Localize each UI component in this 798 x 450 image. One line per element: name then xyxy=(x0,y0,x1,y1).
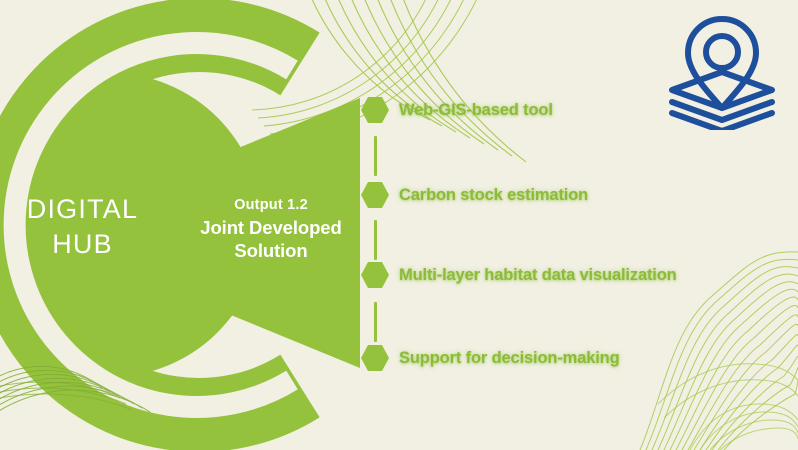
brand-line-2: HUB xyxy=(0,227,165,262)
output-kicker: Output 1.2 xyxy=(182,196,360,214)
output-block: Output 1.2 Joint Developed Solution xyxy=(182,196,360,263)
hexagon-icon xyxy=(360,180,390,210)
list-item[interactable]: Support for decision-making xyxy=(360,341,620,375)
hexagon-icon xyxy=(360,260,390,290)
map-pin-layers-icon xyxy=(660,12,785,130)
output-title-line-2: Solution xyxy=(182,239,360,262)
list-item[interactable]: Web-GIS-based tool xyxy=(360,93,553,127)
list-item[interactable]: Multi-layer habitat data visualization xyxy=(360,258,677,292)
hexagon-icon xyxy=(360,95,390,125)
brand-wordmark: DIGITAL HUB xyxy=(0,192,165,262)
slide-canvas: DIGITAL HUB Output 1.2 Joint Developed S… xyxy=(0,0,798,450)
brand-line-1: DIGITAL xyxy=(0,192,165,227)
list-item-label: Web-GIS-based tool xyxy=(399,101,553,120)
list-item-label: Support for decision-making xyxy=(399,349,620,368)
output-title: Joint Developed Solution xyxy=(182,216,360,263)
list-item[interactable]: Carbon stock estimation xyxy=(360,178,588,212)
output-title-line-1: Joint Developed xyxy=(182,216,360,239)
hexagon-icon xyxy=(360,343,390,373)
list-item-label: Carbon stock estimation xyxy=(399,186,588,205)
list-item-label: Multi-layer habitat data visualization xyxy=(399,266,677,285)
